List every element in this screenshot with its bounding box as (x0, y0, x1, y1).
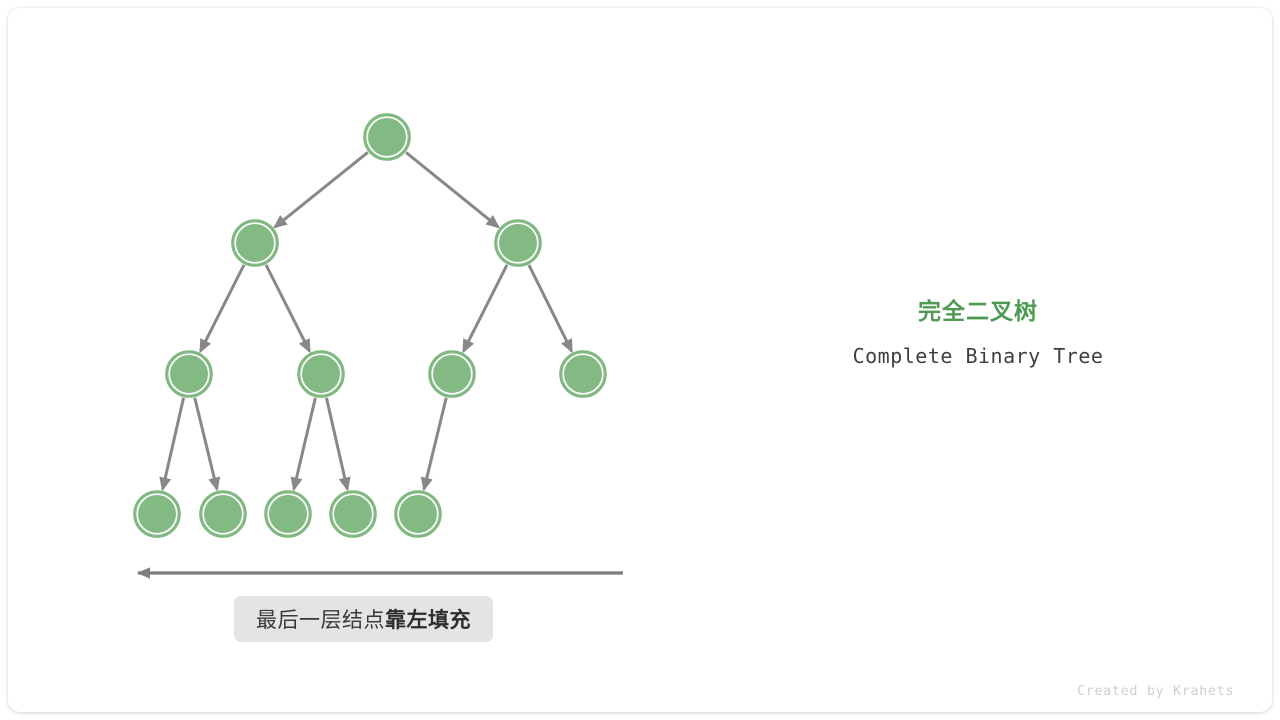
tree-edge (326, 398, 347, 489)
node-inner-ring (432, 354, 472, 394)
node-inner-ring (398, 494, 438, 534)
node-inner-ring (563, 354, 603, 394)
tree-edge (406, 152, 498, 227)
tree-node (166, 351, 212, 397)
tree-edge (200, 265, 244, 351)
tree-edge (266, 265, 310, 351)
annotation-emphasis: 靠左填充 (385, 609, 471, 632)
page-title: 完全二叉树 (828, 296, 1128, 326)
node-inner-ring (137, 494, 177, 534)
tree-node (429, 351, 475, 397)
tree-node (134, 491, 180, 537)
page-subtitle: Complete Binary Tree (828, 343, 1128, 369)
node-inner-ring (235, 223, 275, 263)
annotation-pill: 最后一层结点靠左填充 (234, 596, 493, 642)
tree-node (232, 220, 278, 266)
node-inner-ring (301, 354, 341, 394)
tree-node (200, 491, 246, 537)
node-inner-ring (498, 223, 538, 263)
credit-text: Created by Krahets (1077, 683, 1234, 699)
annotation-label: 最后一层结点靠左填充 (256, 604, 471, 634)
tree-node (495, 220, 541, 266)
node-inner-ring (268, 494, 308, 534)
tree-edge (195, 398, 217, 489)
tree-edge (294, 398, 316, 489)
tree-edge (275, 152, 368, 227)
tree-node (298, 351, 344, 397)
tree-node (560, 351, 606, 397)
caption-block: 完全二叉树 Complete Binary Tree (828, 296, 1128, 369)
tree-edge (529, 265, 572, 351)
node-inner-ring (333, 494, 373, 534)
tree-node (395, 491, 441, 537)
tree-node (330, 491, 376, 537)
annotation-prefix: 最后一层结点 (256, 609, 385, 632)
node-inner-ring (367, 117, 407, 157)
tree-edge (163, 398, 184, 489)
tree-edge (424, 398, 446, 489)
diagram-card: 完全二叉树 Complete Binary Tree 最后一层结点靠左填充 Cr… (8, 8, 1272, 712)
node-inner-ring (203, 494, 243, 534)
tree-edge (463, 265, 507, 351)
tree-node (265, 491, 311, 537)
node-inner-ring (169, 354, 209, 394)
tree-edges (163, 152, 572, 489)
tree-nodes (134, 114, 606, 537)
tree-node (364, 114, 410, 160)
